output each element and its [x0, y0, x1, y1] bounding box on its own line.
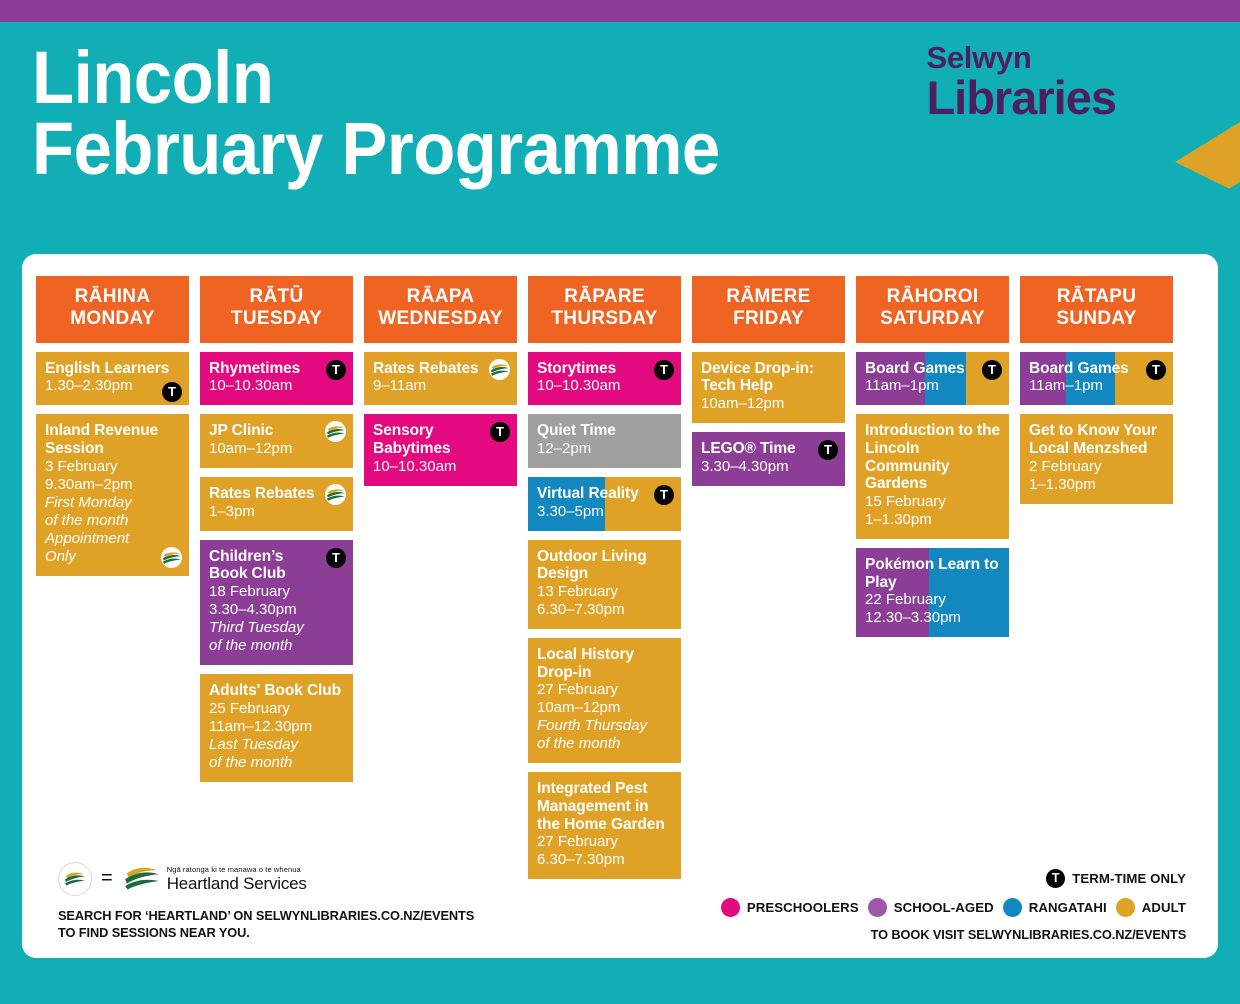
event-title: Adults' Book Club [209, 682, 344, 700]
content-panel: RĀHINAMONDAYEnglish Learners1.30–2.30pmT… [22, 254, 1218, 958]
event-content: Board Games11am–1pm [1029, 360, 1164, 396]
heartland-koru-icon [64, 871, 86, 887]
heartland-koru-icon [161, 547, 182, 568]
event-card[interactable]: Rates Rebates1–3pm [200, 477, 353, 531]
event-detail-line: 13 February [537, 583, 672, 601]
title-line-2: February Programme [32, 113, 720, 184]
event-card[interactable]: Children’s Book Club18 February3.30–4.30… [200, 540, 353, 665]
equals-sign: = [101, 867, 113, 890]
event-card[interactable]: Board Games11am–1pmT [856, 352, 1009, 406]
legend-colour-dot-icon [868, 898, 887, 917]
term-time-badge-icon: T [982, 360, 1002, 380]
event-content: Storytimes10–10.30am [537, 360, 672, 396]
event-note-line: of the month [537, 735, 672, 753]
heartland-text: Ngā ratonga ki te manawa o te whenua Hea… [167, 866, 307, 892]
legend-label: PRESCHOOLERS [747, 900, 859, 915]
day-name-maori: RĀTŪ [202, 286, 351, 308]
event-content: Pokémon Learn to Play22 February12.30–3.… [865, 556, 1000, 627]
day-column-thursday: RĀPARETHURSDAYStorytimes10–10.30amTQuiet… [528, 276, 681, 888]
day-header-friday: RĀMEREFRIDAY [692, 276, 845, 343]
day-name-english: FRIDAY [694, 308, 843, 330]
event-title: Pokémon Learn to Play [865, 556, 1000, 591]
event-detail-line: 3 February [45, 458, 180, 476]
term-time-badge-icon: T [654, 485, 674, 505]
event-note-line: Last Tuesday [209, 736, 344, 754]
day-column-monday: RĀHINAMONDAYEnglish Learners1.30–2.30pmT… [36, 276, 189, 888]
legend-label: ADULT [1142, 900, 1186, 915]
event-card[interactable]: Sensory Babytimes10–10.30amT [364, 414, 517, 485]
event-content: Rates Rebates1–3pm [209, 485, 344, 521]
legend-label: SCHOOL-AGED [894, 900, 994, 915]
event-title: Device Drop-in: Tech Help [701, 360, 836, 395]
day-name-english: SUNDAY [1022, 308, 1171, 330]
event-detail-line: 22 February [865, 591, 1000, 609]
heartland-services-badge-icon [161, 547, 182, 568]
search-instruction-line-1: SEARCH FOR ‘HEARTLAND’ ON SELWYNLIBRARIE… [58, 907, 601, 925]
event-title: Inland Revenue Session [45, 422, 180, 457]
event-detail-line: 27 February [537, 833, 672, 851]
event-detail-line: 6.30–7.30pm [537, 851, 672, 869]
event-card[interactable]: Device Drop-in: Tech Help10am–12pm [692, 352, 845, 423]
heartland-services-badge-icon [325, 484, 346, 505]
event-detail-line: 10–10.30am [209, 377, 344, 395]
event-detail-line: 1–3pm [209, 503, 344, 521]
event-card[interactable]: LEGO® Time3.30–4.30pmT [692, 432, 845, 486]
event-detail-line: 9–11am [373, 377, 508, 395]
day-name-english: THURSDAY [530, 308, 679, 330]
event-detail-line: 10am–12pm [209, 440, 344, 458]
day-name-english: TUESDAY [202, 308, 351, 330]
event-detail-line: 27 February [537, 681, 672, 699]
day-header-thursday: RĀPARETHURSDAY [528, 276, 681, 343]
event-content: Device Drop-in: Tech Help10am–12pm [701, 360, 836, 413]
event-content: Inland Revenue Session3 February9.30am–2… [45, 422, 180, 565]
event-card[interactable]: Local History Drop-in27 February10am–12p… [528, 638, 681, 763]
event-title: Sensory Babytimes [373, 422, 508, 457]
event-title: Local History Drop-in [537, 646, 672, 681]
search-instruction-line-2: TO FIND SESSIONS NEAR YOU. [58, 924, 601, 942]
event-note-line: of the month [209, 637, 344, 655]
legend-item-preschoolers: PRESCHOOLERS [721, 898, 859, 917]
event-title: Integrated Pest Management in the Home G… [537, 780, 672, 833]
term-time-badge-icon: T [1146, 360, 1166, 380]
legend-colour-dot-icon [1116, 898, 1135, 917]
event-card[interactable]: JP Clinic10am–12pm [200, 414, 353, 468]
event-title: Rates Rebates [209, 485, 344, 503]
event-note-line: Fourth Thursday [537, 717, 672, 735]
event-title: Quiet Time [537, 422, 672, 440]
event-detail-line: 10–10.30am [373, 458, 508, 476]
legend-colour-dot-icon [1003, 898, 1022, 917]
day-column-wednesday: RĀAPAWEDNESDAYRates Rebates9–11amSensory… [364, 276, 517, 888]
day-header-saturday: RĀHOROISATURDAY [856, 276, 1009, 343]
event-detail-line: 11am–12.30pm [209, 718, 344, 736]
page-title: Lincoln February Programme [32, 42, 772, 184]
day-column-sunday: RĀTAPUSUNDAYBoard Games11am–1pmTGet to K… [1020, 276, 1173, 888]
event-note-line: Only [45, 548, 180, 566]
event-detail-line: 11am–1pm [1029, 377, 1164, 395]
event-card[interactable]: Rhymetimes10–10.30amT [200, 352, 353, 406]
event-content: Quiet Time12–2pm [537, 422, 672, 458]
event-content: Virtual Reality3.30–5pm [537, 485, 672, 521]
day-name-english: SATURDAY [858, 308, 1007, 330]
event-detail-line: 12.30–3.30pm [865, 609, 1000, 627]
event-title: Virtual Reality [537, 485, 672, 503]
term-time-badge-icon: T [654, 360, 674, 380]
day-name-maori: RĀAPA [366, 286, 515, 308]
heartland-services-logo: Ngā ratonga ki te manawa o te whenua Hea… [122, 865, 307, 892]
day-name-maori: RĀMERE [694, 286, 843, 308]
day-header-sunday: RĀTAPUSUNDAY [1020, 276, 1173, 343]
heartland-koru-icon [325, 484, 346, 505]
heartland-badge-icon [58, 862, 92, 896]
event-content: Sensory Babytimes10–10.30am [373, 422, 508, 475]
legend-item-rangatahi: RANGATAHI [1003, 898, 1107, 917]
event-title: Get to Know Your Local Menzshed [1029, 422, 1164, 457]
event-title: Board Games [1029, 360, 1164, 378]
event-content: Get to Know Your Local Menzshed2 Februar… [1029, 422, 1164, 493]
heartland-legend-row: = Ngā ratonga ki te manawa o te whenua H… [58, 862, 618, 896]
day-column-saturday: RĀHOROISATURDAYBoard Games11am–1pmTIntro… [856, 276, 1009, 888]
day-header-wednesday: RĀAPAWEDNESDAY [364, 276, 517, 343]
event-title: Board Games [865, 360, 1000, 378]
event-detail-line: 1–1.30pm [1029, 476, 1164, 494]
logo-text-libraries: Libraries [926, 74, 1116, 121]
event-title: Children’s Book Club [209, 548, 344, 583]
event-note-line: of the month [45, 512, 180, 530]
top-purple-band [0, 0, 1240, 22]
event-detail-line: 3.30–5pm [537, 503, 672, 521]
event-content: Outdoor Living Design13 February6.30–7.3… [537, 548, 672, 619]
day-header-tuesday: RĀTŪTUESDAY [200, 276, 353, 343]
legend-colour-dot-icon [721, 898, 740, 917]
event-detail-line: 12–2pm [537, 440, 672, 458]
event-detail-line: 3.30–4.30pm [701, 458, 836, 476]
legend-label: RANGATAHI [1029, 900, 1107, 915]
term-time-badge-icon: T [162, 382, 182, 402]
day-name-english: WEDNESDAY [366, 308, 515, 330]
footer-heartland-block: = Ngā ratonga ki te manawa o te whenua H… [58, 862, 618, 942]
day-header-monday: RĀHINAMONDAY [36, 276, 189, 343]
term-time-badge-icon: T [326, 548, 346, 568]
day-name-maori: RĀTAPU [1022, 286, 1171, 308]
term-time-label: TERM-TIME ONLY [1072, 871, 1186, 886]
event-card[interactable]: Get to Know Your Local Menzshed2 Februar… [1020, 414, 1173, 503]
event-detail-line: 1–1.30pm [865, 511, 1000, 529]
event-card[interactable]: Storytimes10–10.30amT [528, 352, 681, 406]
event-title: Storytimes [537, 360, 672, 378]
event-card[interactable]: Adults' Book Club25 February11am–12.30pm… [200, 674, 353, 782]
selwyn-libraries-logo: Selwyn Libraries [926, 42, 1116, 121]
day-name-maori: RĀPARE [530, 286, 679, 308]
event-content: JP Clinic10am–12pm [209, 422, 344, 458]
event-card[interactable]: Integrated Pest Management in the Home G… [528, 772, 681, 879]
heartland-services-badge-icon [489, 359, 510, 380]
heartland-name: Heartland Services [167, 875, 307, 892]
event-content: Children’s Book Club18 February3.30–4.30… [209, 548, 344, 655]
event-detail-line: 11am–1pm [865, 377, 1000, 395]
event-title: LEGO® Time [701, 440, 836, 458]
event-content: Adults' Book Club25 February11am–12.30pm… [209, 682, 344, 772]
event-title: Rates Rebates [373, 360, 508, 378]
event-detail-line: 25 February [209, 700, 344, 718]
event-content: Rates Rebates9–11am [373, 360, 508, 396]
heartland-koru-icon [489, 359, 510, 380]
weekly-calendar: RĀHINAMONDAYEnglish Learners1.30–2.30pmT… [36, 276, 1204, 888]
event-content: Rhymetimes10–10.30am [209, 360, 344, 396]
event-card[interactable]: Quiet Time12–2pm [528, 414, 681, 468]
day-column-friday: RĀMEREFRIDAYDevice Drop-in: Tech Help10a… [692, 276, 845, 888]
event-card[interactable]: Board Games11am–1pmT [1020, 352, 1173, 406]
heartland-tagline: Ngā ratonga ki te manawa o te whenua [167, 866, 307, 874]
event-title: Rhymetimes [209, 360, 344, 378]
event-card[interactable]: Virtual Reality3.30–5pmT [528, 477, 681, 531]
event-detail-line: 9.30am–2pm [45, 476, 180, 494]
event-detail-line: 10am–12pm [701, 395, 836, 413]
day-name-maori: RĀHOROI [858, 286, 1007, 308]
term-time-badge-icon: T [326, 360, 346, 380]
title-line-1: Lincoln [32, 42, 720, 113]
event-content: Integrated Pest Management in the Home G… [537, 780, 672, 869]
event-note-line: of the month [209, 754, 344, 772]
event-card[interactable]: English Learners1.30–2.30pmT [36, 352, 189, 406]
event-card[interactable]: Outdoor Living Design13 February6.30–7.3… [528, 540, 681, 629]
event-note-line: Appointment [45, 530, 180, 548]
event-detail-line: 3.30–4.30pm [209, 601, 344, 619]
event-detail-line: 2 February [1029, 458, 1164, 476]
event-card[interactable]: Rates Rebates9–11am [364, 352, 517, 406]
day-name-english: MONDAY [38, 308, 187, 330]
event-detail-line: 15 February [865, 493, 1000, 511]
event-detail-line: 1.30–2.30pm [45, 377, 180, 395]
event-content: English Learners1.30–2.30pm [45, 360, 180, 396]
booking-instruction: TO BOOK VISIT SELWYNLIBRARIES.CO.NZ/EVEN… [735, 927, 1186, 942]
event-title: Introduction to the Lincoln Community Ga… [865, 422, 1000, 493]
audience-legend: PRESCHOOLERSSCHOOL-AGEDRANGATAHIADULT [721, 898, 1186, 917]
day-name-maori: RĀHINA [38, 286, 187, 308]
event-title: English Learners [45, 360, 180, 378]
term-time-badge-icon: T [1046, 869, 1065, 888]
event-detail-line: 18 February [209, 583, 344, 601]
heartland-koru-large-icon [122, 865, 162, 892]
event-card[interactable]: Introduction to the Lincoln Community Ga… [856, 414, 1009, 539]
event-card[interactable]: Inland Revenue Session3 February9.30am–2… [36, 414, 189, 575]
event-content: Board Games11am–1pm [865, 360, 1000, 396]
event-note-line: Third Tuesday [209, 619, 344, 637]
legend-item-adult: ADULT [1116, 898, 1186, 917]
event-note-line: First Monday [45, 494, 180, 512]
event-detail-line: 10–10.30am [537, 377, 672, 395]
event-detail-line: 6.30–7.30pm [537, 601, 672, 619]
footer-legend-block: T TERM-TIME ONLY PRESCHOOLERSSCHOOL-AGED… [721, 869, 1186, 942]
event-title: JP Clinic [209, 422, 344, 440]
event-content: LEGO® Time3.30–4.30pm [701, 440, 836, 476]
event-content: Introduction to the Lincoln Community Ga… [865, 422, 1000, 529]
day-column-tuesday: RĀTŪTUESDAYRhymetimes10–10.30amTJP Clini… [200, 276, 353, 888]
term-time-legend: T TERM-TIME ONLY [721, 869, 1186, 888]
event-title: Outdoor Living Design [537, 548, 672, 583]
logo-text-selwyn: Selwyn [926, 42, 1116, 73]
term-time-badge-icon: T [818, 440, 838, 460]
legend-item-school-aged: SCHOOL-AGED [868, 898, 994, 917]
event-card[interactable]: Pokémon Learn to Play22 February12.30–3.… [856, 548, 1009, 637]
event-content: Local History Drop-in27 February10am–12p… [537, 646, 672, 753]
event-detail-line: 10am–12pm [537, 699, 672, 717]
